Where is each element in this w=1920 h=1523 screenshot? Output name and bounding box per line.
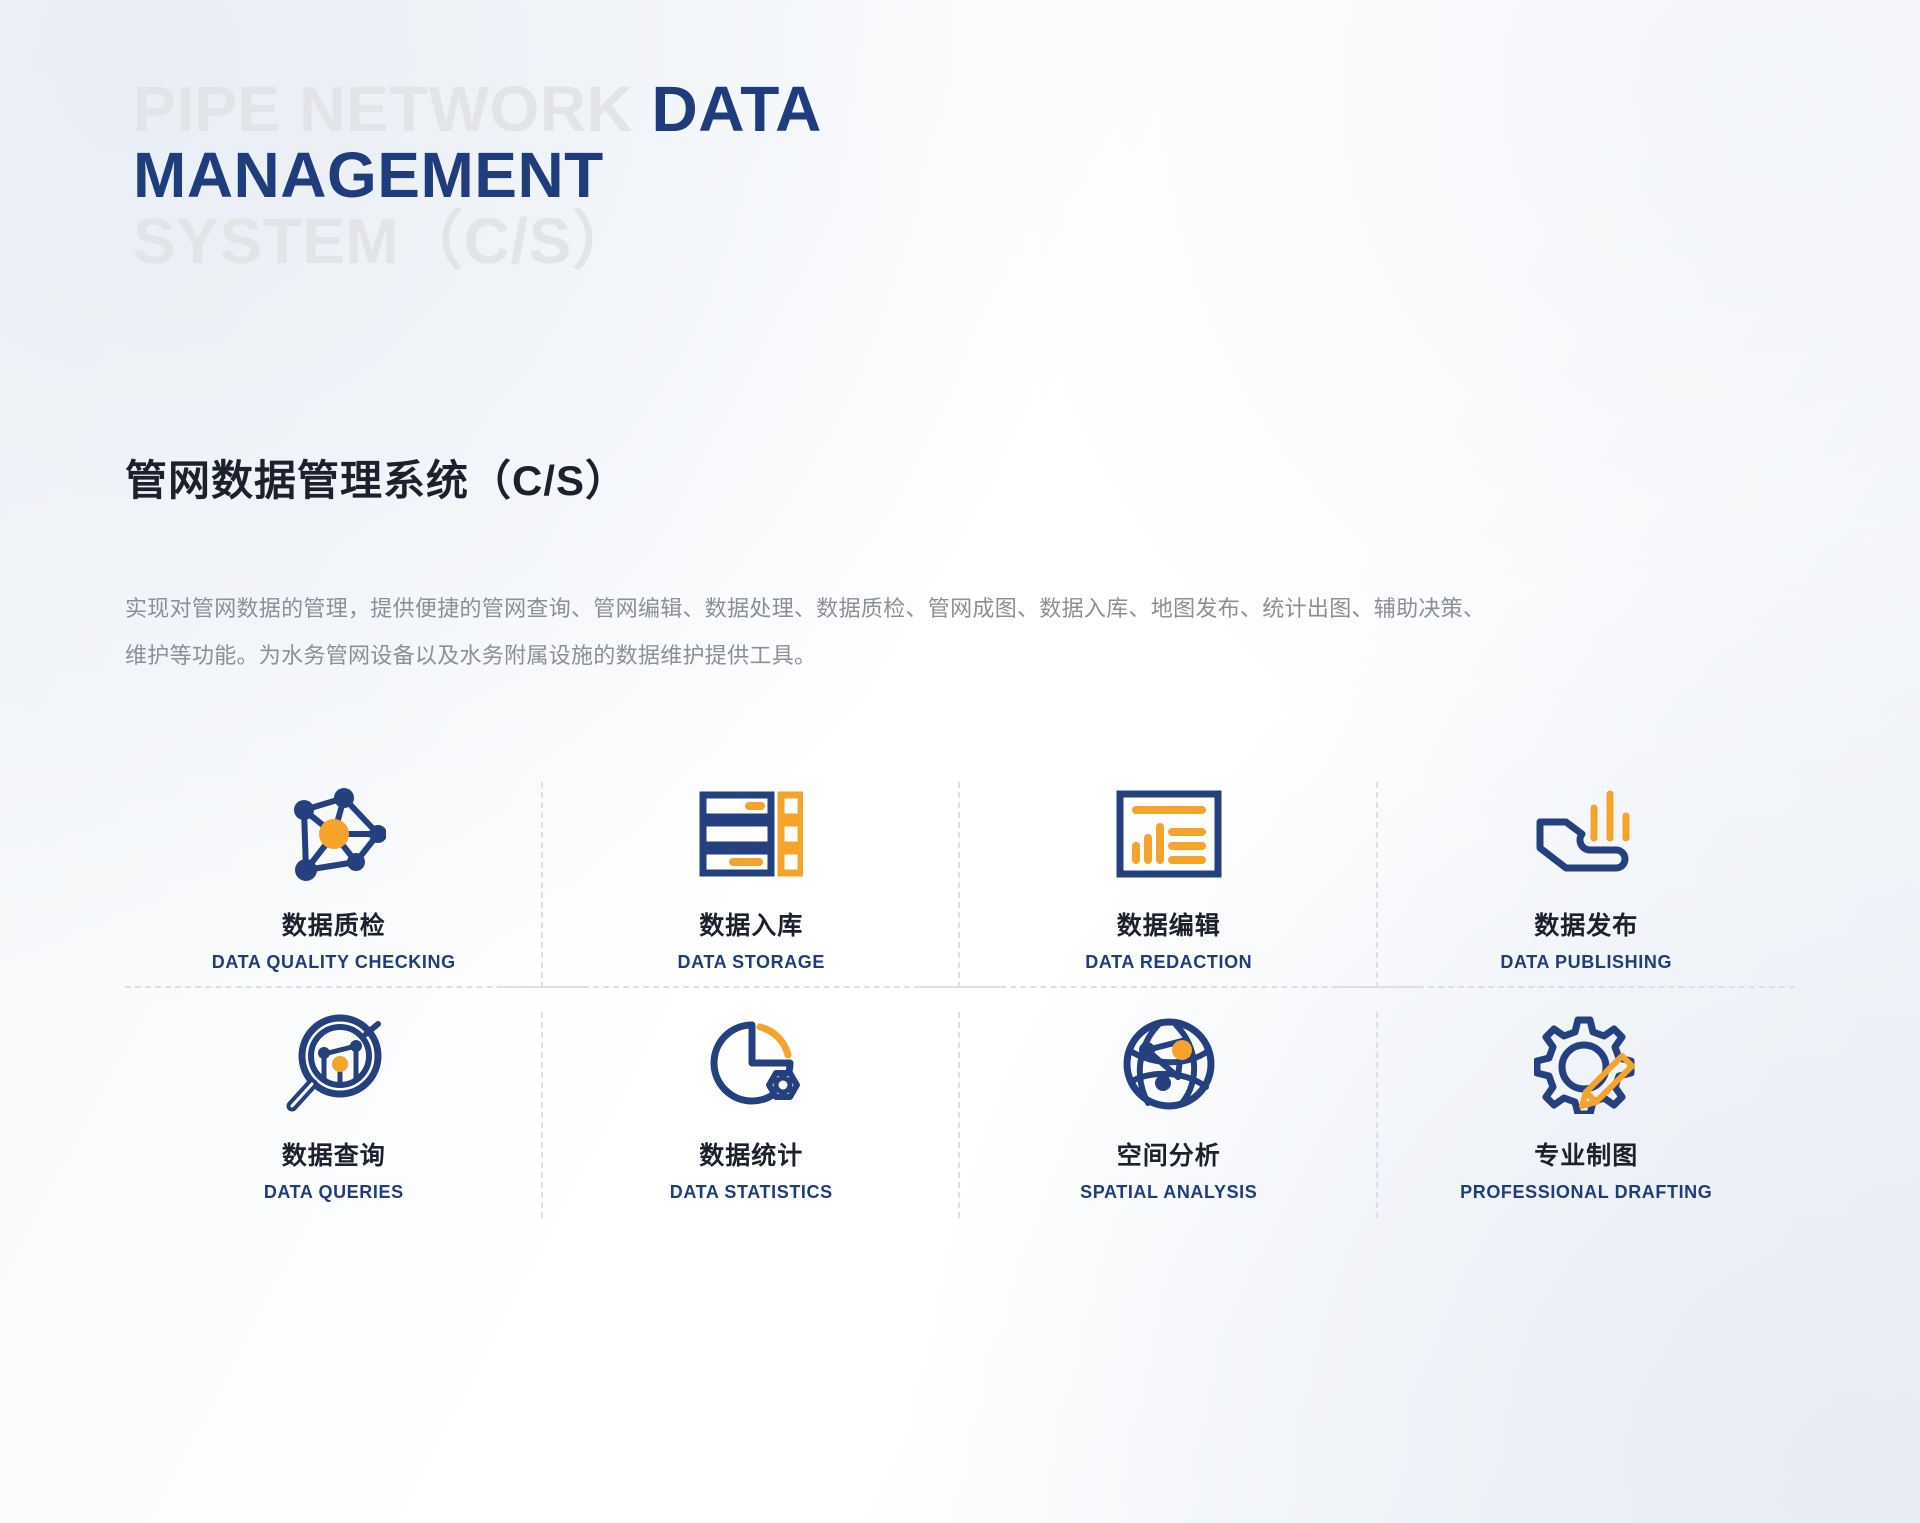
feature-label-en: DATA STORAGE — [677, 952, 825, 973]
feature-label-en: DATA PUBLISHING — [1500, 952, 1672, 973]
wordmark-line-1: PIPE NETWORK DATA — [133, 76, 822, 142]
gear-pencil-icon — [1534, 1010, 1638, 1118]
wordmark-system-cs: SYSTEM（C/S） — [133, 208, 822, 274]
wordmark-data: DATA — [652, 73, 822, 145]
description-line-2: 维护等功能。为水务管网设备以及水务附属设施的数据维护提供工具。 — [125, 632, 1805, 679]
network-nodes-icon — [282, 780, 386, 888]
feature-label-en: SPATIAL ANALYSIS — [1080, 1182, 1257, 1203]
description-block: 实现对管网数据的管理，提供便捷的管网查询、管网编辑、数据处理、数据质检、管网成图… — [125, 585, 1805, 679]
feature-label-cn: 数据入库 — [699, 906, 803, 942]
feature-label-cn: 数据质检 — [282, 906, 386, 942]
feature-label-en: DATA QUERIES — [264, 1182, 404, 1203]
magnifier-chart-icon — [282, 1010, 386, 1118]
feature-label-cn: 数据统计 — [699, 1136, 803, 1172]
feature-item-data-queries[interactable]: 数据查询 DATA QUERIES — [125, 1000, 543, 1230]
feature-label-en: DATA STATISTICS — [670, 1182, 833, 1203]
feature-item-data-statistics[interactable]: 数据统计 DATA STATISTICS — [543, 1000, 961, 1230]
poster-page: PIPE NETWORK DATA MANAGEMENT SYSTEM（C/S）… — [0, 0, 1920, 1523]
feature-item-data-quality-checking[interactable]: 数据质检 DATA QUALITY CHECKING — [125, 770, 543, 1000]
description-line-1: 实现对管网数据的管理，提供便捷的管网查询、管网编辑、数据处理、数据质检、管网成图… — [125, 585, 1805, 632]
feature-item-data-publishing[interactable]: 数据发布 DATA PUBLISHING — [1378, 770, 1796, 1000]
chart-panel-icon — [1116, 780, 1222, 888]
globe-network-icon — [1120, 1010, 1218, 1118]
feature-label-cn: 专业制图 — [1534, 1136, 1638, 1172]
feature-label-en: DATA QUALITY CHECKING — [212, 952, 456, 973]
database-rows-icon — [699, 780, 803, 888]
wordmark-pipe-network: PIPE NETWORK — [133, 73, 652, 145]
feature-item-spatial-analysis[interactable]: 空间分析 SPATIAL ANALYSIS — [960, 1000, 1378, 1230]
feature-item-data-redaction[interactable]: 数据编辑 DATA REDACTION — [960, 770, 1378, 1000]
wordmark: PIPE NETWORK DATA MANAGEMENT SYSTEM（C/S） — [133, 76, 822, 274]
hand-bars-icon — [1532, 780, 1640, 888]
feature-label-cn: 数据编辑 — [1117, 906, 1221, 942]
feature-item-data-storage[interactable]: 数据入库 DATA STORAGE — [543, 770, 961, 1000]
feature-item-professional-drafting[interactable]: 专业制图 PROFESSIONAL DRAFTING — [1378, 1000, 1796, 1230]
feature-grid: 数据质检 DATA QUALITY CHECKING — [125, 770, 1795, 1230]
feature-label-cn: 数据查询 — [282, 1136, 386, 1172]
feature-label-en: PROFESSIONAL DRAFTING — [1460, 1182, 1712, 1203]
pie-gear-icon — [700, 1010, 802, 1118]
wordmark-management: MANAGEMENT — [133, 142, 822, 208]
feature-label-cn: 数据发布 — [1534, 906, 1638, 942]
feature-label-cn: 空间分析 — [1117, 1136, 1221, 1172]
page-title: 管网数据管理系统（C/S） — [125, 447, 628, 508]
feature-label-en: DATA REDACTION — [1085, 952, 1252, 973]
